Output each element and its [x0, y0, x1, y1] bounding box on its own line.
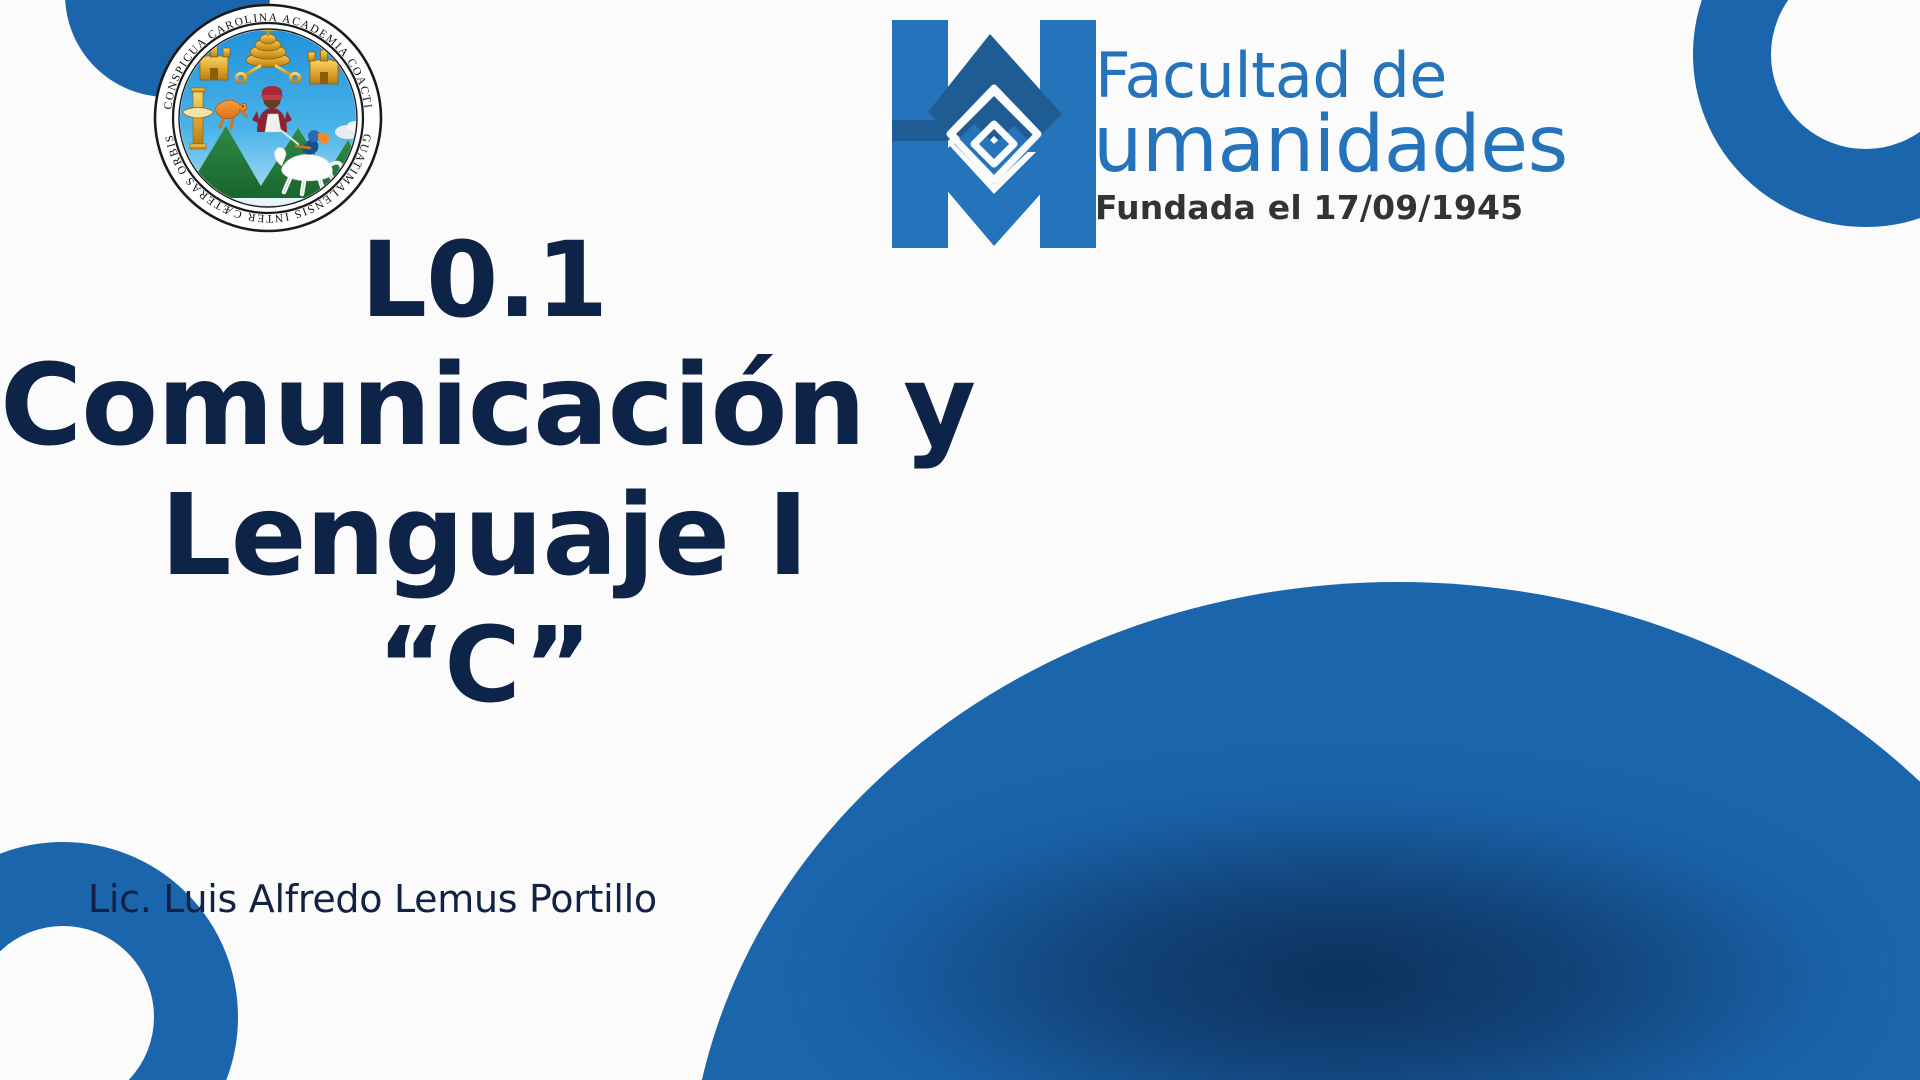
decorative-ring-top-right	[1693, 0, 1920, 227]
logo-line-facultad: Facultad de	[1095, 46, 1495, 106]
course-section: “C”	[0, 604, 968, 727]
course-title-line-1: Comunicación y	[0, 342, 968, 472]
title-block: L0.1 Comunicación y Lenguaje I “C”	[0, 228, 968, 727]
humanidades-wordmark: Facultad de umanidades Fundada el 17/09/…	[1095, 46, 1495, 227]
dome-inner-shadow	[838, 797, 1848, 1080]
course-code: L0.1	[0, 228, 968, 332]
logo-line-fundada: Fundada el 17/09/1945	[1095, 188, 1495, 227]
humanidades-h-monogram-icon	[890, 8, 1118, 256]
course-title-line-2: Lenguaje I	[0, 472, 968, 602]
usac-seal: CONSPICUA CAROLINA ACADEMIA COACTI GUATI…	[152, 2, 384, 234]
facultad-humanidades-logo: Facultad de umanidades Fundada el 17/09/…	[890, 8, 1490, 258]
logo-line-umanidades: umanidades	[1093, 108, 1495, 183]
slide-canvas: CONSPICUA CAROLINA ACADEMIA COACTI GUATI…	[0, 0, 1920, 1080]
instructor-name: Lic. Luis Alfredo Lemus Portillo	[88, 877, 657, 921]
